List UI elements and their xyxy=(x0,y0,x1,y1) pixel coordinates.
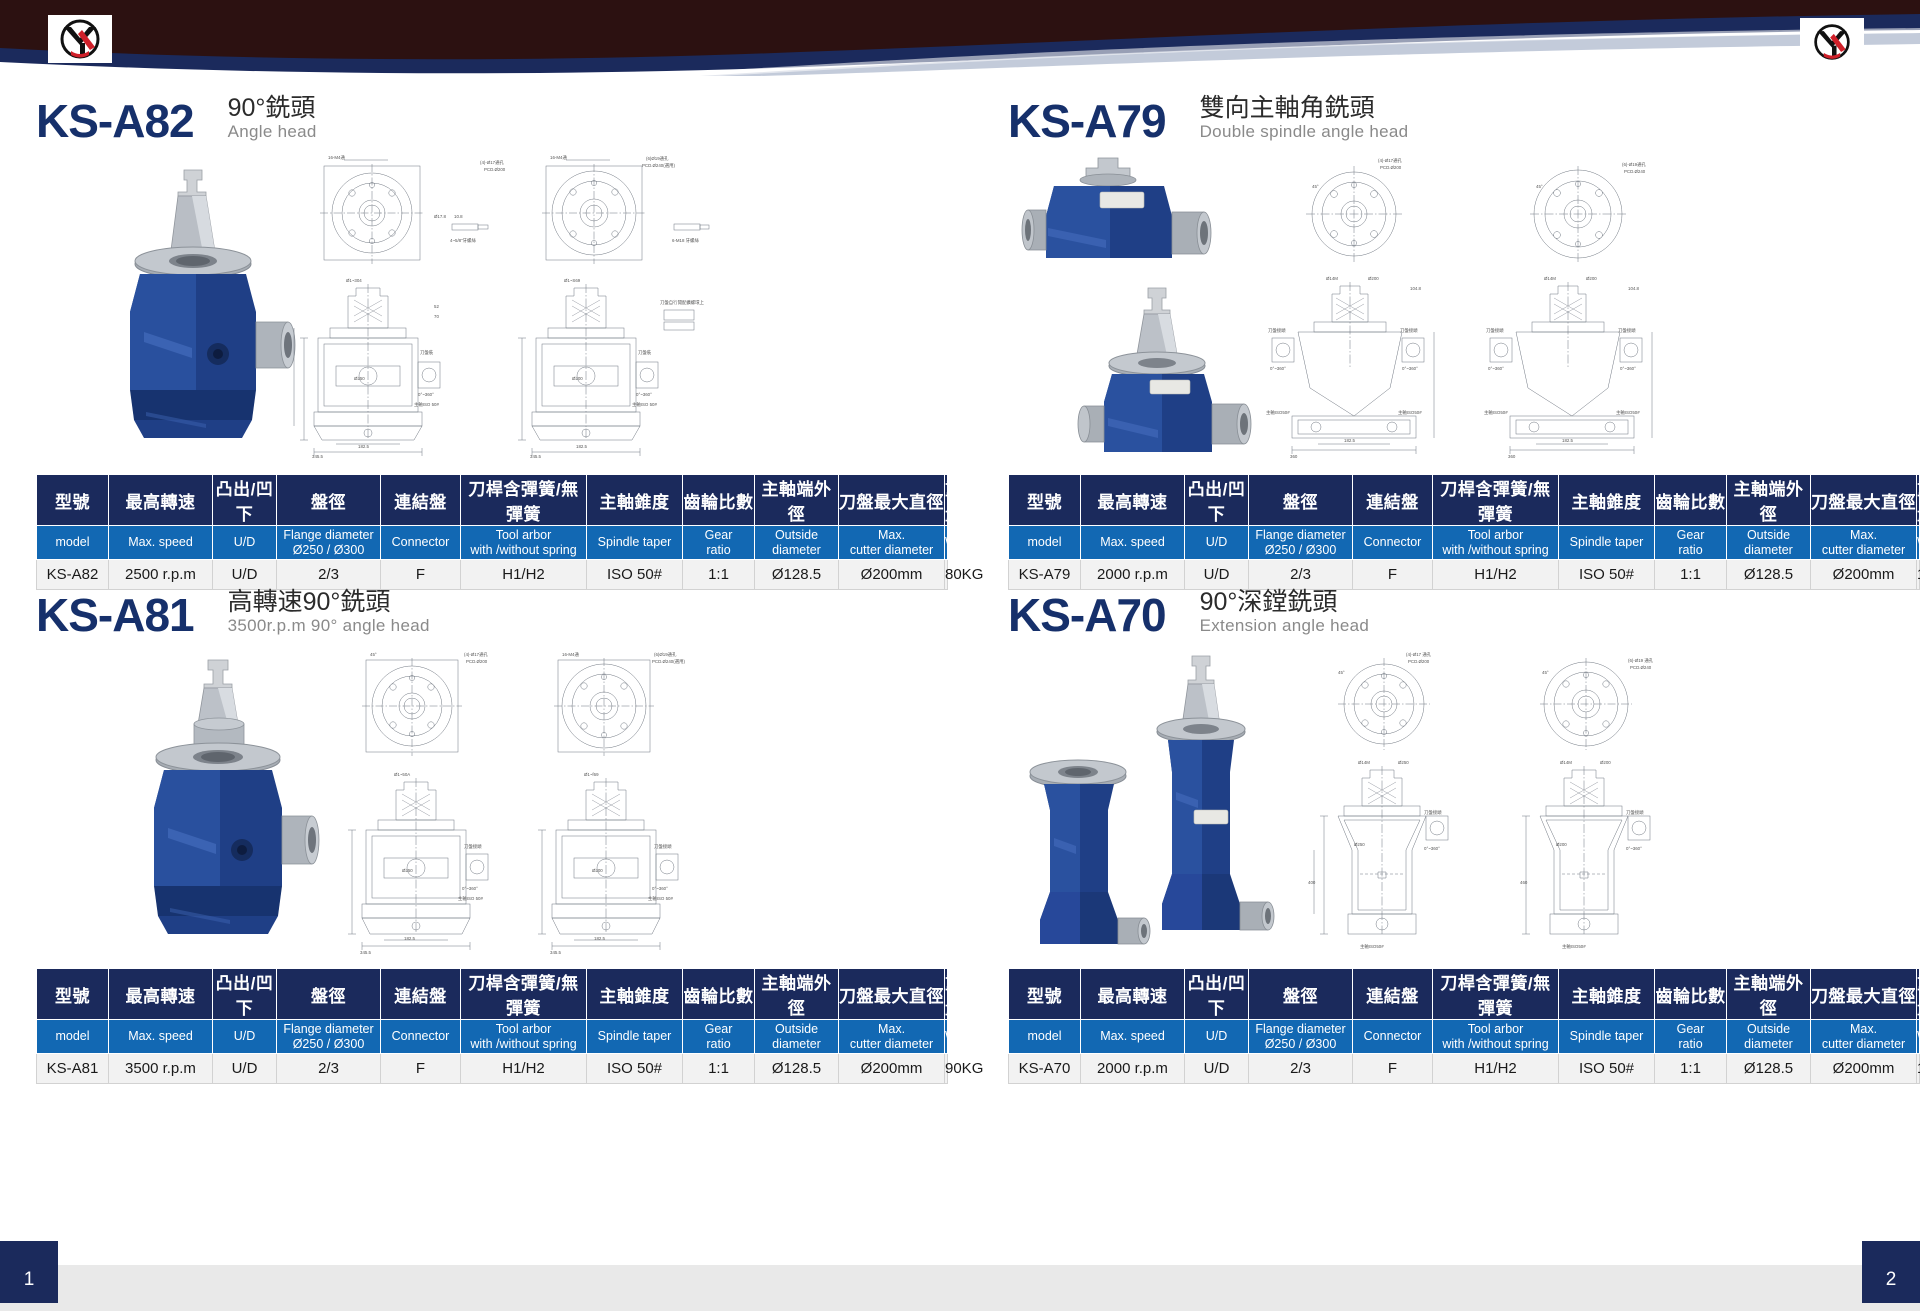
header-cn-gear-ratio: 齒輪比數 xyxy=(683,475,755,526)
header-cn-connector: 連結盤 xyxy=(1353,475,1433,526)
cell-weight: 105KG xyxy=(1917,1054,1920,1084)
dim-label: Ø250 xyxy=(402,868,413,873)
dim-label: 52 xyxy=(434,304,439,309)
header-en-gear-ratio: Gear ratio xyxy=(683,1020,755,1054)
dim-label: 主軸ISO50# xyxy=(1360,943,1384,950)
dim-label: Ø1~50A xyxy=(394,772,410,777)
company-logo-left xyxy=(48,15,112,63)
dim-label: (6)-Ø19通孔 xyxy=(1622,161,1647,168)
header-cn-tool-arbor: 刀桿含彈簧/無彈簧 xyxy=(461,969,587,1020)
spec-table-ks-a81: 型號 最高轉速 凸出/凹下 盤徑 連結盤 刀桿含彈簧/無彈簧 主軸錐度 齒輪比數… xyxy=(36,968,948,1084)
cell-spindle-taper: ISO 50# xyxy=(1559,1054,1655,1084)
header-en-gear-ratio: Gear ratio xyxy=(683,526,755,560)
spec-table-ks-a79: 型號 最高轉速 凸出/凹下 盤徑 連結盤 刀桿含彈簧/無彈簧 主軸錐度 齒輪比數… xyxy=(1008,474,1920,590)
dim-label: 刀盤接頭 xyxy=(1486,327,1504,334)
header-en-cutter-diameter: Max. cutter diameter xyxy=(1811,1020,1917,1054)
dim-label: PCD.Ø240 xyxy=(1630,665,1652,670)
header-en-model: model xyxy=(37,526,109,560)
header-en-weight: Weight xyxy=(945,1020,948,1054)
technical-drawing-top-views-a79: (4)-Ø17通孔 PCD.Ø200 (6)-Ø19通孔 PCD.Ø240 45… xyxy=(1258,152,1688,270)
header-en-gear-ratio: Gear ratio xyxy=(1655,526,1727,560)
spec-header-cn-row: 型號 最高轉速 凸出/凹下 盤徑 連結盤 刀桿含彈簧/無彈簧 主軸錐度 齒輪比數… xyxy=(1009,969,1920,1020)
product-photo-ks-a79-upper xyxy=(1014,154,1224,294)
spec-table-ks-a70: 型號 最高轉速 凸出/凹下 盤徑 連結盤 刀桿含彈簧/無彈簧 主軸錐度 齒輪比數… xyxy=(1008,968,1920,1084)
dim-label: 0°~360° xyxy=(1270,366,1286,371)
dim-label: 0°~360° xyxy=(418,392,434,397)
header-en-tool-arbor: Tool arbor with /without spring xyxy=(461,1020,587,1054)
table-row: KS-A70 2000 r.p.m U/D 2/3 F H1/H2 ISO 50… xyxy=(1009,1054,1920,1084)
header-cn-spindle-taper: 主軸錐度 xyxy=(1559,969,1655,1020)
product-title-block: 雙向主軸角銑頭 Double spindle angle head xyxy=(1200,94,1409,144)
dim-label: 刀盤接頭 xyxy=(1626,809,1644,816)
dim-label: 182.5 xyxy=(404,936,416,941)
product-title-cn: 雙向主軸角銑頭 xyxy=(1200,94,1409,122)
header-en-ud: U/D xyxy=(1185,526,1249,560)
header-cn-max-speed: 最高轉速 xyxy=(109,475,213,526)
header-en-flange-diameter: Flange diameter Ø250 / Ø300 xyxy=(277,526,381,560)
dim-label: Ø250 xyxy=(1354,842,1365,847)
dim-label: Ø1~S69 xyxy=(564,278,581,283)
dim-label: 45° xyxy=(1312,184,1319,189)
spec-header-cn-row: 型號 最高轉速 凸出/凹下 盤徑 連結盤 刀桿含彈簧/無彈簧 主軸錐度 齒輪比數… xyxy=(37,969,948,1020)
spec-header-en-row: model Max. speed U/D Flange diameter Ø25… xyxy=(37,526,948,560)
product-title-en: 3500r.p.m 90° angle head xyxy=(228,616,430,636)
dim-label: 刀盤接頭 xyxy=(654,843,672,850)
dim-label: 182.5 xyxy=(358,444,370,449)
product-photo-ks-a81 xyxy=(86,654,326,954)
dim-label: 刀盤接頭 xyxy=(1618,327,1636,334)
dim-label: PCD.Ø240 xyxy=(1624,169,1646,174)
header-en-weight: Weight xyxy=(945,526,948,560)
dim-label: Ø17.8 xyxy=(434,214,447,219)
product-title-en: Angle head xyxy=(228,122,317,142)
header-cn-weight: 重量 xyxy=(1917,475,1920,526)
dim-label: (6)-Ø19 通孔 xyxy=(1628,657,1654,664)
dim-label: 104.8 xyxy=(1410,286,1422,291)
header-cn-cutter-diameter: 刀盤最大直徑 xyxy=(839,969,945,1020)
header-cn-cutter-diameter: 刀盤最大直徑 xyxy=(1811,475,1917,526)
dim-label: 主軸ISO50# xyxy=(1484,409,1508,416)
dim-label: 刀盤裝 xyxy=(420,349,434,356)
dim-label: 主軸ISO50# xyxy=(1398,409,1422,416)
table-row: KS-A81 3500 r.p.m U/D 2/3 F H1/H2 ISO 50… xyxy=(37,1054,948,1084)
header-en-connector: Connector xyxy=(1353,1020,1433,1054)
header-cn-cutter-diameter: 刀盤最大直徑 xyxy=(1811,969,1917,1020)
dim-label: PCD.Ø240(選用) xyxy=(642,162,675,169)
cell-model: KS-A81 xyxy=(37,1054,109,1084)
dim-label: 345.5 xyxy=(360,950,372,954)
product-photo-ks-a82 xyxy=(66,162,296,462)
page-footer: 1 2 xyxy=(0,1237,1920,1311)
header-en-ud: U/D xyxy=(213,526,277,560)
dim-label: PCD.Ø240(選用) xyxy=(652,658,685,665)
header-en-spindle-taper: Spindle taper xyxy=(1559,526,1655,560)
header-cn-outside-diameter: 主軸端外徑 xyxy=(1727,969,1811,1020)
header-cn-model: 型號 xyxy=(1009,475,1081,526)
header-cn-flange-diameter: 盤徑 xyxy=(1249,969,1353,1020)
product-panel-ks-a82: KS-A82 90°銑頭 Angle head xyxy=(36,82,966,642)
cell-cutter-diameter: Ø200mm xyxy=(1811,1054,1917,1084)
header-en-model: model xyxy=(1009,1020,1081,1054)
header-en-cutter-diameter: Max. cutter diameter xyxy=(839,526,945,560)
header-cn-outside-diameter: 主軸端外徑 xyxy=(755,969,839,1020)
header-en-max-speed: Max. speed xyxy=(109,526,213,560)
header-en-outside-diameter: Outside diameter xyxy=(1727,1020,1811,1054)
dim-label: 6-M18 牙螺絲 xyxy=(672,237,699,244)
dim-label: 主軸ISO50# xyxy=(1562,943,1586,950)
dim-label: 刀盤接頭 xyxy=(1268,327,1286,334)
header-cn-ud: 凸出/凹下 xyxy=(1185,475,1249,526)
cell-spindle-taper: ISO 50# xyxy=(587,1054,683,1084)
header-cn-max-speed: 最高轉速 xyxy=(1081,475,1185,526)
product-panel-ks-a79: KS-A79 雙向主軸角銑頭 Double spindle angle head xyxy=(1008,82,1920,642)
header-en-tool-arbor: Tool arbor with /without spring xyxy=(1433,526,1559,560)
dim-label: 0°~360° xyxy=(636,392,652,397)
header-en-tool-arbor: Tool arbor with /without spring xyxy=(461,526,587,560)
dim-label: 400 xyxy=(1308,880,1316,885)
technical-drawing-section-views-a82: Ø1~304 Ø1~S69 345.5 182.5 345.5 182.5 Ø2… xyxy=(284,270,714,460)
header-cn-connector: 連結盤 xyxy=(1353,969,1433,1020)
dim-label: Ø250 xyxy=(354,376,365,381)
dim-label: 0°~360° xyxy=(652,886,668,891)
header-cn-ud: 凸出/凹下 xyxy=(213,969,277,1020)
figure-group: (4)-Ø17通孔 PCD.Ø200 (6)-Ø19通孔 PCD.Ø240 45… xyxy=(1008,152,1920,474)
product-title-cn: 高轉速90°銑頭 xyxy=(228,588,430,616)
header-cn-spindle-taper: 主軸錐度 xyxy=(587,475,683,526)
page-number-left: 1 xyxy=(0,1241,58,1303)
header-cn-max-speed: 最高轉速 xyxy=(1081,969,1185,1020)
header-cn-tool-arbor: 刀桿含彈簧/無彈簧 xyxy=(461,475,587,526)
dim-label: PCD.Ø200 xyxy=(466,659,488,664)
cell-max-speed: 2000 r.p.m xyxy=(1081,1054,1185,1084)
header-cn-weight: 重量 xyxy=(945,475,948,526)
header-en-flange-diameter: Flange diameter Ø250 / Ø300 xyxy=(277,1020,381,1054)
header-cn-spindle-taper: 主軸錐度 xyxy=(1559,475,1655,526)
header-en-weight: Weight xyxy=(1917,526,1920,560)
dim-label: 刀盤自行開配擴螺環上 xyxy=(660,299,705,306)
product-code: KS-A82 xyxy=(36,98,194,144)
dim-label: 45° xyxy=(370,652,377,657)
dim-label: 16-M4通 xyxy=(550,154,567,161)
figure-group: (4)-Ø17 通孔 PCD.Ø200 (6)-Ø19 通孔 PCD.Ø240 … xyxy=(1008,646,1920,968)
dim-label: 182.5 xyxy=(1562,438,1574,443)
dim-label: 0°~360° xyxy=(1424,846,1440,851)
spec-header-cn-row: 型號 最高轉速 凸出/凹下 盤徑 連結盤 刀桿含彈簧/無彈簧 主軸錐度 齒輪比數… xyxy=(37,475,948,526)
technical-drawing-top-views-a70: (4)-Ø17 通孔 PCD.Ø200 (6)-Ø19 通孔 PCD.Ø240 … xyxy=(1294,646,1694,756)
cell-flange-diameter: 2/3 xyxy=(277,1054,381,1084)
header-cn-gear-ratio: 齒輪比數 xyxy=(1655,969,1727,1020)
product-title-block: 90°銑頭 Angle head xyxy=(228,94,317,144)
dim-label: 460 xyxy=(1520,880,1528,885)
technical-drawing-top-views-a82: 16-M4通 (4)-Ø17通孔 PCD.Ø200 16-M4通 (6)Ø19通… xyxy=(284,152,714,272)
cell-connector: F xyxy=(1353,1054,1433,1084)
banner-graphic xyxy=(0,0,1920,76)
header-cn-tool-arbor: 刀桿含彈簧/無彈簧 xyxy=(1433,475,1559,526)
header-cn-model: 型號 xyxy=(37,475,109,526)
top-banner xyxy=(0,0,1920,76)
header-en-connector: Connector xyxy=(1353,526,1433,560)
dim-label: 345.5 xyxy=(550,950,562,954)
header-en-connector: Connector xyxy=(381,1020,461,1054)
dim-label: 16-M4通 xyxy=(328,154,345,161)
dim-label: (6)Ø19通孔 xyxy=(646,155,669,162)
header-en-outside-diameter: Outside diameter xyxy=(755,526,839,560)
header-cn-tool-arbor: 刀桿含彈簧/無彈簧 xyxy=(1433,969,1559,1020)
dim-label: (6)Ø19通孔 xyxy=(654,651,677,658)
header-en-weight: Weight xyxy=(1917,1020,1920,1054)
dim-label: 0°~360° xyxy=(1488,366,1504,371)
header-en-spindle-taper: Spindle taper xyxy=(587,1020,683,1054)
dim-label: 刀盤接頭 xyxy=(464,843,482,850)
dim-label: Ø200 xyxy=(592,868,603,873)
dim-label: Ø14M xyxy=(1544,276,1556,281)
dim-label: (4)-Ø17通孔 xyxy=(480,159,505,166)
footer-bar xyxy=(0,1265,1920,1311)
header-en-tool-arbor: Tool arbor with /without spring xyxy=(1433,1020,1559,1054)
header-en-cutter-diameter: Max. cutter diameter xyxy=(1811,526,1917,560)
dim-label: Ø14M xyxy=(1358,760,1370,765)
header-en-cutter-diameter: Max. cutter diameter xyxy=(839,1020,945,1054)
header-cn-gear-ratio: 齒輪比數 xyxy=(1655,475,1727,526)
product-code: KS-A70 xyxy=(1008,592,1166,638)
header-cn-gear-ratio: 齒輪比數 xyxy=(683,969,755,1020)
dim-label: 45° xyxy=(1536,184,1543,189)
header-cn-ud: 凸出/凹下 xyxy=(1185,969,1249,1020)
dim-label: 10.8 xyxy=(454,214,463,219)
header-en-outside-diameter: Outside diameter xyxy=(1727,526,1811,560)
dim-label: 360 xyxy=(1508,454,1516,459)
dim-label: 0°~360° xyxy=(1620,366,1636,371)
cell-model: KS-A70 xyxy=(1009,1054,1081,1084)
product-heading: KS-A79 雙向主軸角銑頭 Double spindle angle head xyxy=(1008,82,1920,144)
cell-outside-diameter: Ø128.5 xyxy=(1727,1054,1811,1084)
product-title-block: 90°深鏜銑頭 Extension angle head xyxy=(1200,588,1370,638)
dim-label: 345.5 xyxy=(530,454,542,459)
spec-table-ks-a82: 型號 最高轉速 凸出/凹下 盤徑 連結盤 刀桿含彈簧/無彈簧 主軸錐度 齒輪比數… xyxy=(36,474,948,590)
product-panel-ks-a81: KS-A81 高轉速90°銑頭 3500r.p.m 90° angle head xyxy=(36,576,966,1136)
header-cn-max-speed: 最高轉速 xyxy=(109,969,213,1020)
header-en-model: model xyxy=(37,1020,109,1054)
header-cn-weight: 重量 xyxy=(945,969,948,1020)
dim-label: Ø200 xyxy=(1556,842,1567,847)
dim-label: Ø200 xyxy=(1600,760,1611,765)
figure-group: 45° (4)-Ø17通孔 PCD.Ø200 16-M4通 (6)Ø19通孔 P… xyxy=(36,646,966,968)
header-en-spindle-taper: Spindle taper xyxy=(1559,1020,1655,1054)
product-code: KS-A79 xyxy=(1008,98,1166,144)
dim-label: Ø14M xyxy=(1326,276,1338,281)
product-title-block: 高轉速90°銑頭 3500r.p.m 90° angle head xyxy=(228,588,430,638)
cell-gear-ratio: 1:1 xyxy=(683,1054,755,1084)
dim-label: 主軸ISO 50# xyxy=(632,401,657,408)
product-heading: KS-A70 90°深鏜銑頭 Extension angle head xyxy=(1008,576,1920,638)
header-en-flange-diameter: Flange diameter Ø250 / Ø300 xyxy=(1249,526,1353,560)
dim-label: 主軸ISO 50# xyxy=(458,895,483,902)
cell-ud: U/D xyxy=(1185,1054,1249,1084)
header-en-max-speed: Max. speed xyxy=(109,1020,213,1054)
page-number-right: 2 xyxy=(1862,1241,1920,1303)
company-logo-right xyxy=(1800,18,1864,66)
cell-gear-ratio: 1:1 xyxy=(1655,1054,1727,1084)
product-heading: KS-A82 90°銑頭 Angle head xyxy=(36,82,966,144)
dim-label: 4~5/8"牙螺絲 xyxy=(450,237,476,244)
company-logo-icon xyxy=(1805,22,1859,62)
header-cn-outside-diameter: 主軸端外徑 xyxy=(755,475,839,526)
dim-label: 345.5 xyxy=(312,454,324,459)
product-title-cn: 90°銑頭 xyxy=(228,94,317,122)
header-cn-ud: 凸出/凹下 xyxy=(213,475,277,526)
dim-label: Ø1~f69 xyxy=(584,772,599,777)
dim-label: 0°~360° xyxy=(462,886,478,891)
header-en-max-speed: Max. speed xyxy=(1081,1020,1185,1054)
dim-label: 刀盤接頭 xyxy=(1424,809,1442,816)
dim-label: 182.5 xyxy=(594,936,606,941)
header-en-model: model xyxy=(1009,526,1081,560)
spec-header-en-row: model Max. speed U/D Flange diameter Ø25… xyxy=(1009,1020,1920,1054)
spec-header-en-row: model Max. speed U/D Flange diameter Ø25… xyxy=(1009,526,1920,560)
header-cn-model: 型號 xyxy=(37,969,109,1020)
header-cn-outside-diameter: 主軸端外徑 xyxy=(1727,475,1811,526)
dim-label: Ø200 xyxy=(1586,276,1597,281)
dim-label: 182.5 xyxy=(1344,438,1356,443)
dim-label: 70 xyxy=(434,314,439,319)
product-heading: KS-A81 高轉速90°銑頭 3500r.p.m 90° angle head xyxy=(36,576,966,638)
dim-label: 主軸ISO 50# xyxy=(648,895,673,902)
cell-tool-arbor: H1/H2 xyxy=(1433,1054,1559,1084)
cell-weight: 90KG xyxy=(945,1054,948,1084)
cell-outside-diameter: Ø128.5 xyxy=(755,1054,839,1084)
dim-label: 360 xyxy=(1290,454,1298,459)
dim-label: (4)-Ø17 通孔 xyxy=(1406,651,1432,658)
dim-label: 刀盤接頭 xyxy=(1400,327,1418,334)
dim-label: 主軸ISO50# xyxy=(1616,409,1640,416)
cell-flange-diameter: 2/3 xyxy=(1249,1054,1353,1084)
dim-label: 主軸ISO 50# xyxy=(414,401,439,408)
header-en-flange-diameter: Flange diameter Ø250 / Ø300 xyxy=(1249,1020,1353,1054)
product-photo-ks-a70-right xyxy=(1120,652,1280,958)
header-cn-flange-diameter: 盤徑 xyxy=(1249,475,1353,526)
product-panel-ks-a70: KS-A70 90°深鏜銑頭 Extension angle head xyxy=(1008,576,1920,1136)
dim-label: Ø200 xyxy=(572,376,583,381)
dim-label: 104.8 xyxy=(1628,286,1640,291)
dim-label: 主軸ISO50# xyxy=(1266,409,1290,416)
product-code: KS-A81 xyxy=(36,592,194,638)
dim-label: Ø14M xyxy=(1560,760,1572,765)
spec-header-cn-row: 型號 最高轉速 凸出/凹下 盤徑 連結盤 刀桿含彈簧/無彈簧 主軸錐度 齒輪比數… xyxy=(1009,475,1920,526)
dim-label: 0°~360° xyxy=(1626,846,1642,851)
product-title-cn: 90°深鏜銑頭 xyxy=(1200,588,1370,616)
header-cn-flange-diameter: 盤徑 xyxy=(277,475,381,526)
dim-label: PCD.Ø200 xyxy=(1408,659,1430,664)
header-cn-connector: 連結盤 xyxy=(381,969,461,1020)
header-en-gear-ratio: Gear ratio xyxy=(1655,1020,1727,1054)
technical-drawing-section-views-a81: Ø1~50A Ø1~f69 345.5 182.5 345.5 182.5 Ø2… xyxy=(336,764,716,954)
dim-label: PCD.Ø200 xyxy=(1380,165,1402,170)
dim-label: PCD.Ø200 xyxy=(484,167,506,172)
dim-label: 182.5 xyxy=(576,444,588,449)
spec-header-en-row: model Max. speed U/D Flange diameter Ø25… xyxy=(37,1020,948,1054)
dim-label: 45° xyxy=(1542,670,1549,675)
cell-connector: F xyxy=(381,1054,461,1084)
product-photo-ks-a79-lower xyxy=(1066,284,1266,474)
dim-label: Ø1~304 xyxy=(346,278,362,283)
product-title-en: Extension angle head xyxy=(1200,616,1370,636)
header-en-max-speed: Max. speed xyxy=(1081,526,1185,560)
header-en-ud: U/D xyxy=(213,1020,277,1054)
header-en-spindle-taper: Spindle taper xyxy=(587,526,683,560)
header-cn-weight: 重量 xyxy=(1917,969,1920,1020)
header-cn-flange-diameter: 盤徑 xyxy=(277,969,381,1020)
company-logo-icon xyxy=(51,17,109,61)
header-en-connector: Connector xyxy=(381,526,461,560)
header-en-outside-diameter: Outside diameter xyxy=(755,1020,839,1054)
cell-max-speed: 3500 r.p.m xyxy=(109,1054,213,1084)
technical-drawing-section-views-a79: Ø14M Ø200 Ø14M Ø200 104.8 104.8 刀盤接頭 刀盤接… xyxy=(1258,268,1688,460)
product-title-en: Double spindle angle head xyxy=(1200,122,1409,142)
dim-label: Ø250 xyxy=(1398,760,1409,765)
dim-label: (4)-Ø17通孔 xyxy=(1378,157,1403,164)
figure-group: 16-M4通 (4)-Ø17通孔 PCD.Ø200 16-M4通 (6)Ø19通… xyxy=(36,152,966,474)
dim-label: 16-M4通 xyxy=(562,651,579,658)
dim-label: 刀盤裝 xyxy=(638,349,652,356)
header-cn-cutter-diameter: 刀盤最大直徑 xyxy=(839,475,945,526)
technical-drawing-section-views-a70: Ø14M Ø250 Ø14M Ø200 Ø250 Ø200 刀盤接頭 刀盤接頭 … xyxy=(1294,754,1694,954)
header-cn-model: 型號 xyxy=(1009,969,1081,1020)
header-cn-spindle-taper: 主軸錐度 xyxy=(587,969,683,1020)
header-cn-connector: 連結盤 xyxy=(381,475,461,526)
dim-label: (4)-Ø17通孔 xyxy=(464,651,489,658)
cell-ud: U/D xyxy=(213,1054,277,1084)
cell-cutter-diameter: Ø200mm xyxy=(839,1054,945,1084)
cell-tool-arbor: H1/H2 xyxy=(461,1054,587,1084)
catalog-sheet: KS-A82 90°銑頭 Angle head xyxy=(0,76,1920,1236)
header-en-ud: U/D xyxy=(1185,1020,1249,1054)
dim-label: 0°~360° xyxy=(1402,366,1418,371)
dim-label: Ø200 xyxy=(1368,276,1379,281)
dim-label: 45° xyxy=(1338,670,1345,675)
technical-drawing-top-views-a81: 45° (4)-Ø17通孔 PCD.Ø200 16-M4通 (6)Ø19通孔 P… xyxy=(336,646,716,766)
